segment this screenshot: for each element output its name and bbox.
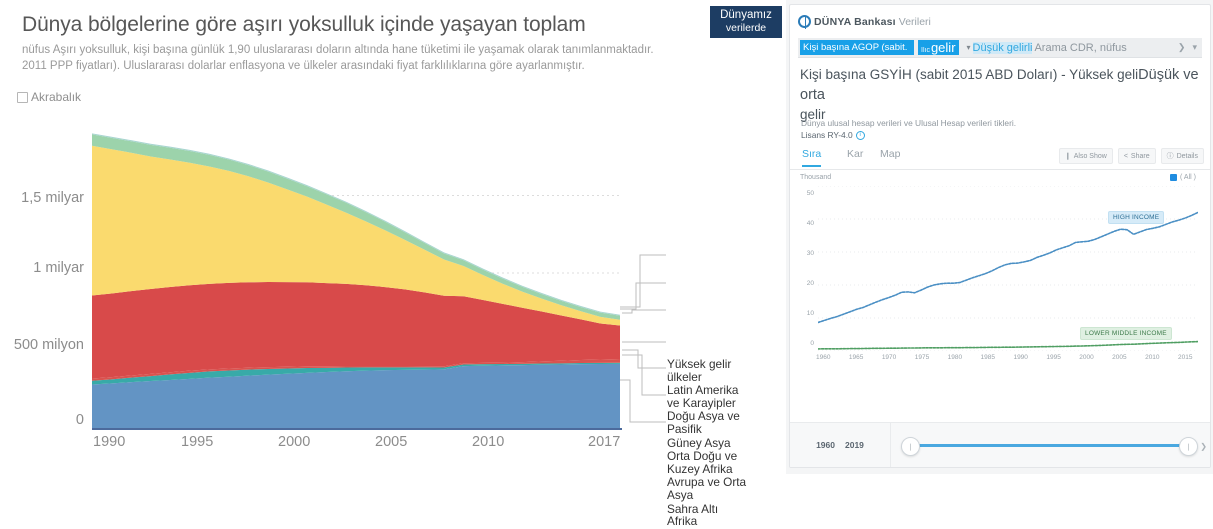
also-show-button[interactable]: ❙ Also Show bbox=[1059, 148, 1113, 164]
also-show-label: Also Show bbox=[1074, 153, 1107, 160]
wb-y-tick: 10 bbox=[792, 310, 814, 317]
x-tick-label: 1990 bbox=[93, 434, 125, 450]
series-label-lower-middle-income[interactable]: LOWER MIDDLE INCOME bbox=[1080, 327, 1172, 340]
wb-x-tick: 1990 bbox=[1013, 354, 1027, 361]
wb-y-tick: 0 bbox=[792, 340, 814, 347]
year-start-label: 1960 bbox=[816, 440, 835, 450]
owid-badge-line1: Dünyamız bbox=[720, 9, 772, 22]
all-label: ( All ) bbox=[1180, 174, 1196, 181]
x-tick-label: 2000 bbox=[278, 434, 310, 450]
wb-y-tick: 20 bbox=[792, 280, 814, 287]
tab-map[interactable]: Map bbox=[880, 148, 900, 165]
x-tick-label: 2017 bbox=[588, 434, 620, 450]
play-icon[interactable]: ❯ bbox=[1178, 42, 1186, 53]
legend-label: ülkeler bbox=[667, 371, 782, 384]
wb-x-tick: 2010 bbox=[1145, 354, 1159, 361]
wb-y-tick: 50 bbox=[792, 190, 814, 197]
year-slider[interactable]: ❘ ❘ ❯ bbox=[890, 423, 1210, 467]
wb-x-tick: 2015 bbox=[1178, 354, 1192, 361]
info-icon: ⓘ bbox=[1167, 151, 1174, 161]
owid-badge-line2: verilerde bbox=[726, 22, 766, 35]
chevron-down-icon: ▾ bbox=[967, 43, 971, 52]
details-button[interactable]: ⓘ Details bbox=[1161, 148, 1204, 164]
y-tick-label: 1,5 milyar bbox=[0, 190, 84, 206]
slider-track[interactable] bbox=[909, 444, 1188, 447]
income-chip-small: Ilıc bbox=[921, 47, 930, 54]
globe-icon bbox=[798, 15, 811, 28]
wb-x-tick: 1980 bbox=[948, 354, 962, 361]
country-chip[interactable]: ▾ Düşük gelirli Arama CDR, nüfus bbox=[964, 40, 1130, 55]
chevron-down-icon[interactable]: ▾ bbox=[1192, 42, 1197, 53]
x-tick-label: 1995 bbox=[181, 434, 213, 450]
legend-item[interactable]: Doğu Asya ve Pasifik bbox=[667, 410, 782, 435]
income-chip[interactable]: Ilıc gelir bbox=[918, 40, 959, 55]
legend-item[interactable]: Avrupa ve Orta Asya bbox=[667, 476, 782, 501]
unit-label: Thousand bbox=[800, 174, 831, 181]
wb-y-tick: 30 bbox=[792, 250, 814, 257]
worldbank-line-chart: Thousand ( All ) 50 40 30 20 10 0 HIGH I… bbox=[790, 172, 1210, 422]
share-icon: < bbox=[1124, 153, 1128, 160]
income-chip-big: gelir bbox=[931, 40, 956, 55]
widget-tabs: Sıra Kar Map ❙ Also Show < Share ⓘ Detai… bbox=[790, 145, 1210, 170]
legend-label: Asya bbox=[667, 489, 782, 502]
legend-item[interactable]: Yüksek gelir ülkeler bbox=[667, 358, 782, 383]
legend-label: Güney Asya bbox=[667, 437, 782, 450]
legend-item[interactable]: Sahra Altı Afrika bbox=[667, 503, 782, 528]
all-series-toggle[interactable]: ( All ) bbox=[1170, 174, 1196, 181]
worldbank-brand[interactable]: DÜNYA Bankası Verileri bbox=[798, 15, 931, 28]
country-chip-highlight: Düşük gelirli bbox=[973, 42, 1033, 54]
x-axis-line bbox=[92, 428, 622, 430]
chart-subtitle-line1: nüfus Aşırı yoksulluk, kişi başına günlü… bbox=[22, 42, 712, 58]
wb-x-tick: 1985 bbox=[981, 354, 995, 361]
owid-logo-badge[interactable]: Dünyamız verilerde bbox=[710, 6, 782, 38]
meta-license: Lisans RY-4.0 bbox=[801, 130, 853, 140]
tab-sira[interactable]: Sıra bbox=[802, 148, 821, 167]
series-label-high-income[interactable]: HIGH INCOME bbox=[1108, 211, 1164, 224]
x-tick-label: 2005 bbox=[375, 434, 407, 450]
legend-item[interactable]: Latin Amerika ve Karayipler bbox=[667, 384, 782, 409]
info-icon[interactable]: i bbox=[856, 131, 865, 140]
bars-icon: ❙ bbox=[1065, 152, 1071, 160]
indicator-chip[interactable]: Kişi başına AGOP (sabit. bbox=[800, 40, 914, 55]
stacked-area-plot bbox=[92, 118, 620, 428]
y-tick-label: 0 bbox=[0, 412, 84, 428]
wb-x-tick: 2000 bbox=[1079, 354, 1093, 361]
chart-subtitle-line2: 2011 PPP fiyatları). Uluslararası dolarl… bbox=[22, 58, 712, 74]
wb-y-tick: 40 bbox=[792, 220, 814, 227]
area-chart-svg bbox=[92, 118, 620, 428]
share-button[interactable]: < Share bbox=[1118, 148, 1156, 164]
filter-bar-controls[interactable]: ❯ ▾ bbox=[1178, 42, 1202, 53]
widget-title-main: Kişi başına GSYİH (sabit 2015 ABD Doları… bbox=[800, 67, 1138, 82]
wb-x-tick: 1995 bbox=[1046, 354, 1060, 361]
worldbank-panel: DÜNYA Bankası Verileri Kişi başına AGOP … bbox=[786, 0, 1213, 474]
worldbank-card: DÜNYA Bankası Verileri Kişi başına AGOP … bbox=[789, 4, 1211, 468]
relative-checkbox[interactable]: Akrabalık bbox=[17, 90, 81, 104]
checkbox-box-icon[interactable] bbox=[17, 92, 28, 103]
wb-x-tick: 1960 bbox=[816, 354, 830, 361]
legend-label: Kuzey Afrika bbox=[667, 463, 782, 476]
y-tick-label: 1 milyar bbox=[0, 260, 84, 276]
tab-kar[interactable]: Kar bbox=[847, 148, 863, 165]
page-title: Dünya bölgelerine göre aşırı yoksulluk i… bbox=[22, 12, 722, 38]
checkbox-checked-icon[interactable] bbox=[1170, 174, 1177, 181]
share-label: Share bbox=[1131, 153, 1150, 160]
widget-action-buttons: ❙ Also Show < Share ⓘ Details bbox=[1059, 148, 1204, 164]
legend-label: ve Karayipler bbox=[667, 397, 782, 410]
wb-x-tick: 1965 bbox=[849, 354, 863, 361]
filter-bar[interactable]: Kişi başına AGOP (sabit. Ilıc gelir ▾ Dü… bbox=[798, 38, 1202, 58]
year-end-label: 2019 bbox=[845, 440, 864, 450]
legend-item[interactable]: Güney Asya bbox=[667, 437, 782, 450]
year-range-footer: 1960 2019 ❘ ❘ ❯ bbox=[790, 422, 1210, 467]
legend-label: Latin Amerika bbox=[667, 384, 782, 397]
legend-label: Afrika bbox=[667, 515, 782, 528]
widget-meta: Dünya ulusal hesap verileri ve Ulusal He… bbox=[801, 117, 1201, 141]
chevron-right-icon[interactable]: ❯ bbox=[1200, 442, 1207, 451]
slider-handle-left[interactable]: ❘ bbox=[901, 437, 920, 456]
wb-x-tick: 2005 bbox=[1112, 354, 1126, 361]
meta-source: Dünya ulusal hesap verileri ve Ulusal He… bbox=[801, 117, 1201, 129]
legend-label: Sahra Altı bbox=[667, 503, 782, 516]
brand-bold-text: DÜNYA Bankası bbox=[814, 16, 896, 28]
legend-label: Pasifik bbox=[667, 423, 782, 436]
y-tick-label: 500 milyon bbox=[0, 337, 84, 353]
legend-leader-lines bbox=[618, 110, 674, 430]
country-chip-rest: Arama CDR, nüfus bbox=[1034, 42, 1126, 54]
legend-label: Avrupa ve Orta bbox=[667, 476, 782, 489]
slider-handle-right[interactable]: ❘ bbox=[1179, 437, 1198, 456]
chart-legend: Yüksek gelir ülkeler Latin Amerika ve Ka… bbox=[667, 358, 782, 529]
legend-item[interactable]: Orta Doğu ve Kuzey Afrika bbox=[667, 450, 782, 475]
legend-label: Yüksek gelir bbox=[667, 358, 782, 371]
owid-chart-panel: Dünya bölgelerine göre aşırı yoksulluk i… bbox=[0, 0, 786, 474]
year-range-labels: 1960 2019 bbox=[790, 440, 890, 450]
wb-x-tick: 1975 bbox=[915, 354, 929, 361]
x-tick-label: 2010 bbox=[472, 434, 504, 450]
details-label: Details bbox=[1177, 153, 1198, 160]
wb-x-tick: 1970 bbox=[882, 354, 896, 361]
chart-subtitle: nüfus Aşırı yoksulluk, kişi başına günlü… bbox=[22, 42, 712, 74]
chart-area: 1,5 milyar 1 milyar 500 milyon 0 1990 19… bbox=[0, 110, 786, 470]
legend-label: Orta Doğu ve bbox=[667, 450, 782, 463]
brand-light-text: Verileri bbox=[899, 16, 931, 28]
relative-checkbox-label: Akrabalık bbox=[31, 90, 81, 104]
widget-title: Kişi başına GSYİH (sabit 2015 ABD Doları… bbox=[800, 65, 1200, 124]
